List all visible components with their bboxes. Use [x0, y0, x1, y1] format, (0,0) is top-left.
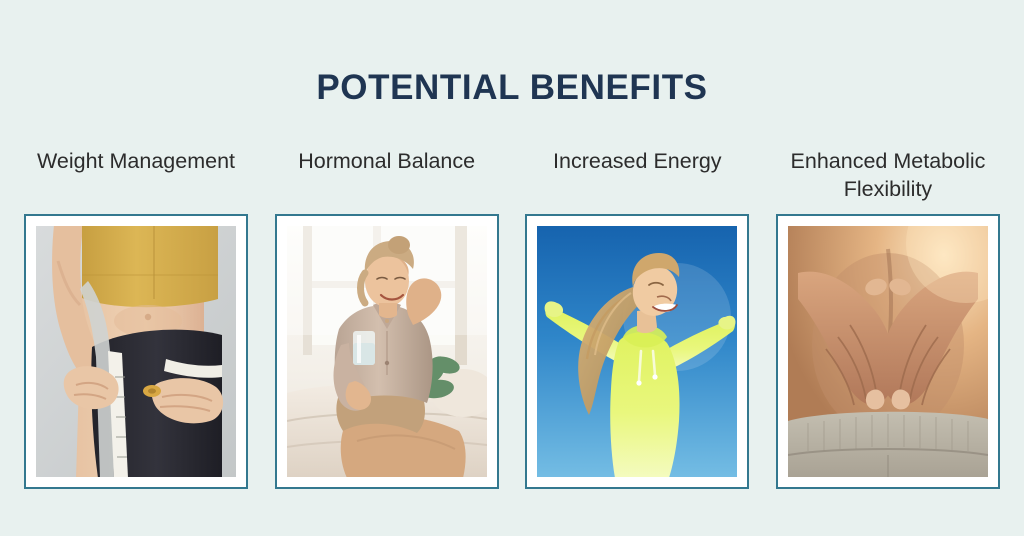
benefit-label-hormonal-balance: Hormonal Balance — [296, 148, 477, 204]
benefit-card-increased-energy: Increased Energy — [525, 148, 749, 489]
waist-measuring-tape-photo — [36, 226, 236, 477]
benefit-label-enhanced-metabolic-flexibility: Enhanced Metabolic Flexibility — [776, 148, 1000, 204]
page-title: POTENTIAL BENEFITS — [0, 68, 1024, 108]
benefits-infographic: POTENTIAL BENEFITS Weight Management — [0, 0, 1024, 536]
photo-frame-increased-energy — [525, 214, 749, 489]
benefits-card-row: Weight Management — [24, 148, 1000, 489]
woman-arms-outstretched-blue-sky-photo — [537, 226, 737, 477]
hands-heart-over-abdomen-photo — [788, 226, 988, 477]
woman-with-water-glass-on-bed-photo — [287, 226, 487, 477]
photo-frame-hormonal-balance — [275, 214, 499, 489]
benefit-card-enhanced-metabolic-flexibility: Enhanced Metabolic Flexibility — [776, 148, 1000, 489]
benefit-label-weight-management: Weight Management — [35, 148, 237, 204]
benefit-card-hormonal-balance: Hormonal Balance — [275, 148, 499, 489]
photo-frame-weight-management — [24, 214, 248, 489]
benefit-label-increased-energy: Increased Energy — [551, 148, 724, 204]
photo-frame-enhanced-metabolic-flexibility — [776, 214, 1000, 489]
benefit-card-weight-management: Weight Management — [24, 148, 248, 489]
